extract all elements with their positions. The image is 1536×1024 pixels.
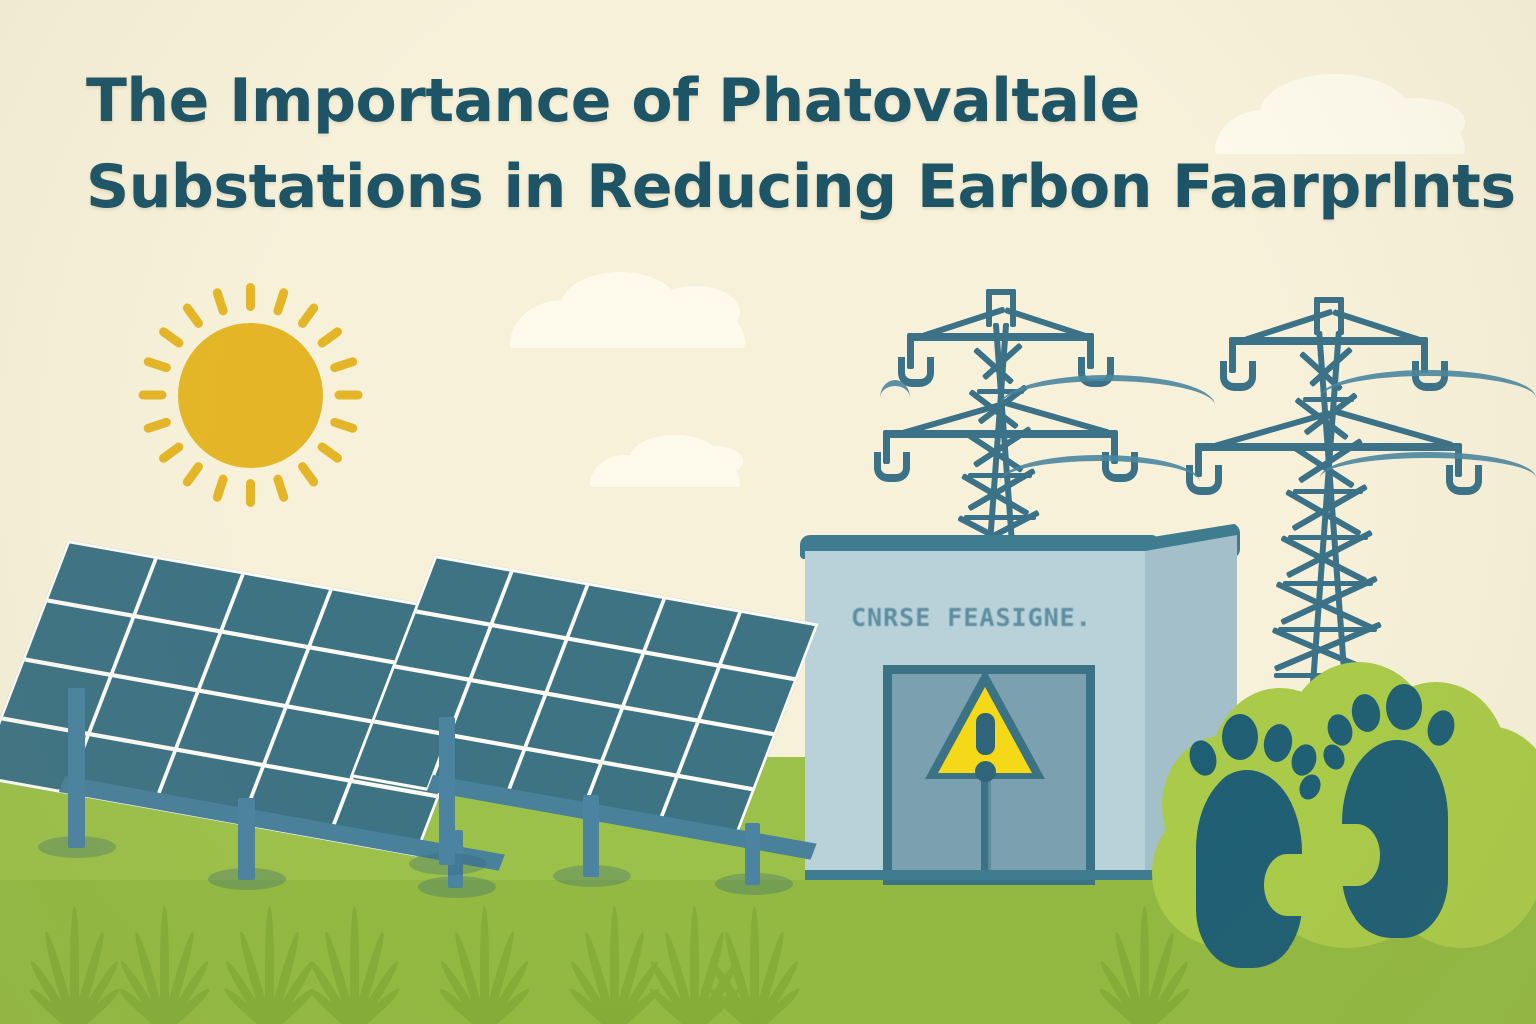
solar-cell (604, 709, 696, 773)
grass-tuft (20, 904, 120, 1024)
solar-panel-leg (68, 688, 85, 848)
carbon-footprint-icon (1152, 648, 1532, 948)
solar-cell (451, 682, 543, 746)
building-front-wall: CNRSE FEASIGNE. (805, 551, 1145, 878)
sun-ray (272, 287, 289, 316)
sun-ray (328, 417, 357, 434)
pylon-beam (912, 333, 1092, 341)
sun-ray (142, 356, 171, 373)
power-line (1000, 375, 1215, 436)
pylon-insulator-hook (874, 452, 910, 482)
warning-triangle-icon (925, 669, 1045, 817)
title-line-2: Substations in Reducing Earbon Faarprlnt… (86, 144, 1476, 230)
sun-ray (138, 391, 166, 400)
solar-cell (701, 668, 793, 732)
solar-cell (3, 662, 108, 732)
sun-ray (211, 287, 228, 316)
sun-ray (315, 326, 343, 350)
sun-ray (157, 441, 185, 465)
solar-cell (723, 613, 815, 677)
power-line (880, 380, 910, 416)
grass-tuft (110, 904, 210, 1024)
exclamation-bar (976, 713, 995, 755)
sun-core (178, 323, 323, 468)
solar-cell (201, 634, 306, 704)
solar-panel-array-right (415, 555, 835, 885)
footprint-toe (1386, 684, 1422, 730)
title-line-1: The Importance of Phatovaltale (86, 58, 1476, 144)
footprint-arch-notch (1334, 824, 1380, 886)
footprint-toe (1288, 741, 1321, 779)
exclamation-dot (975, 761, 996, 782)
sun-ray (142, 417, 171, 434)
bush-lobe (1452, 768, 1536, 898)
solar-cell (472, 627, 564, 691)
solar-cell (26, 603, 131, 673)
sun-ray (272, 473, 289, 502)
illustration-canvas: CNRSE FEASIGNE. The Importance of Phatov… (0, 0, 1536, 1024)
solar-cell (680, 723, 772, 787)
substation-wall-label: CNRSE FEASIGNE. (851, 603, 1141, 632)
grass-tuft (1090, 904, 1190, 1024)
sun-ray (211, 473, 228, 502)
sun-ray (246, 283, 255, 311)
solar-panel-leg (583, 795, 599, 877)
solar-cell (224, 575, 329, 645)
sun-ray (181, 302, 205, 330)
cloud-icon (590, 455, 740, 487)
solar-cell (417, 559, 509, 623)
sun-icon (125, 270, 375, 520)
footprint-toe (1349, 692, 1383, 734)
solar-cell (91, 677, 196, 747)
footprint-toe (1424, 707, 1459, 749)
power-line (1000, 455, 1200, 509)
sun-ray (315, 441, 343, 465)
solar-panel-leg (745, 823, 760, 885)
solar-cell (570, 586, 662, 650)
cloud-icon (510, 300, 745, 348)
footprint-toe (1324, 711, 1357, 749)
footprint-toe (1261, 722, 1295, 764)
sun-ray (246, 479, 255, 507)
solar-cell (549, 641, 641, 705)
pylon-beam (1234, 337, 1426, 345)
solar-panel-leg (238, 798, 255, 880)
solar-cell (113, 618, 218, 688)
solar-cell (625, 654, 717, 718)
grass-tuft (430, 904, 530, 1024)
sun-ray (157, 326, 185, 350)
footprint (1320, 684, 1456, 934)
footprint-arch-notch (1264, 854, 1310, 916)
pylon-beam (1314, 297, 1344, 303)
pylon-beam (986, 289, 1016, 295)
sun-ray (181, 460, 205, 488)
solar-panel-leg (439, 717, 455, 865)
footprint-toe (1222, 714, 1258, 760)
page-title: The Importance of Phatovaltale Substatio… (86, 58, 1476, 230)
solar-cell (49, 544, 154, 614)
power-line (1320, 452, 1536, 504)
solar-cell (528, 696, 620, 760)
solar-cell (178, 693, 283, 763)
grass-tuft (700, 904, 800, 1024)
sun-ray (296, 460, 320, 488)
sun-ray (296, 302, 320, 330)
solar-cell (493, 572, 585, 636)
grass-tuft (300, 904, 400, 1024)
sun-ray (334, 391, 362, 400)
footprint-toe (1320, 741, 1349, 773)
power-line (1320, 370, 1536, 426)
footprint-toe (1186, 737, 1221, 779)
solar-cell (136, 559, 241, 629)
pylon-insulator-hook (1220, 361, 1256, 391)
solar-cell (396, 614, 488, 678)
sun-ray (328, 356, 357, 373)
footprint (1188, 714, 1324, 964)
solar-cell (646, 599, 738, 663)
